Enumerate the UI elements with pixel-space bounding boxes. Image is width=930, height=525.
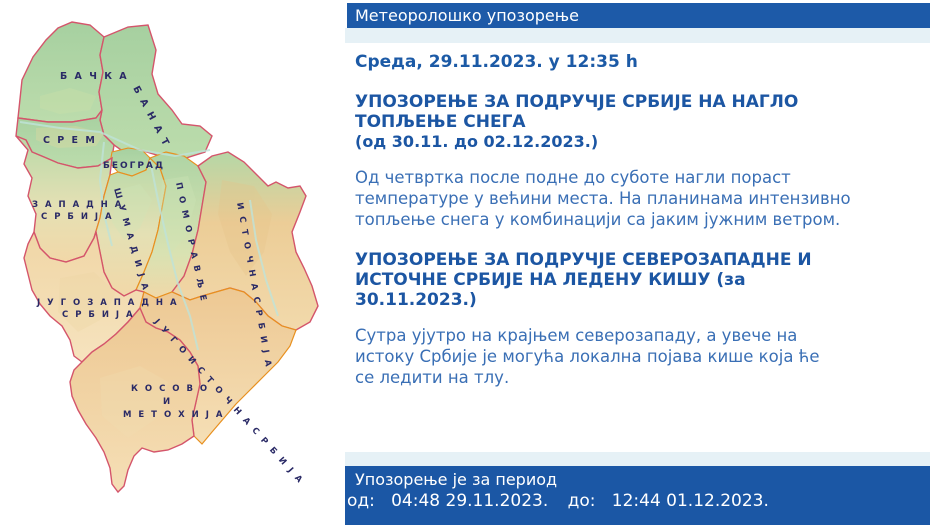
period-divider-strip — [345, 452, 930, 466]
validity-period-band: Упозорење је за период од: 04:48 29.11.2… — [345, 466, 930, 525]
warning-2-title-line2: ИСТОЧНЕ СРБИЈЕ НА ЛЕДЕНУ КИШУ (за — [355, 270, 930, 290]
warning-1-title-line1: УПОЗОРЕЊЕ ЗА ПОДРУЧЈЕ СРБИЈЕ НА НАГЛО — [355, 92, 930, 112]
period-from-value: 04:48 29.11.2023. — [391, 491, 548, 511]
warning-2-body: Сутра ујутро на крајњем северозападу, а … — [355, 310, 930, 388]
map-label-zapadna-srbija: З А П А Д Н А — [32, 200, 123, 210]
warning-body: Среда, 29.11.2023. у 12:35 h УПОЗОРЕЊЕ З… — [355, 46, 930, 388]
page-title: Метеоролошко упозорење — [347, 3, 930, 28]
warning-2-title: УПОЗОРЕЊЕ ЗА ПОДРУЧЈЕ СЕВЕРОЗАПАДНЕ И ИС… — [355, 230, 930, 310]
issue-datetime: Среда, 29.11.2023. у 12:35 h — [355, 46, 930, 72]
warning-1-body-line1: Од четвртка после подне до суботе нагли … — [355, 167, 930, 188]
period-to: до: 12:44 01.12.2023. — [568, 491, 769, 511]
period-values: од: 04:48 29.11.2023. до: 12:44 01.12.20… — [345, 490, 930, 513]
warning-1-title-line3: (од 30.11. до 02.12.2023.) — [355, 132, 930, 152]
period-from-label: од: — [347, 491, 375, 511]
weather-warning-page: Б А Ч К А Б А Н А Т С Р Е М БЕОГРАД З А … — [0, 0, 930, 525]
map-label-kosovo-3: М Е Т О Х И Ј А — [123, 410, 224, 420]
serbia-region-map: Б А Ч К А Б А Н А Т С Р Е М БЕОГРАД З А … — [0, 0, 345, 525]
warning-1-title: УПОЗОРЕЊЕ ЗА ПОДРУЧЈЕ СРБИЈЕ НА НАГЛО ТО… — [355, 72, 930, 152]
period-from: од: 04:48 29.11.2023. — [347, 491, 554, 511]
map-label-kosovo-2: И — [163, 397, 172, 407]
warning-2-body-line3: се ледити на тлу. — [355, 367, 930, 388]
map-label-jugozapadna-srbija: Ј У Г О З А П А Д Н А — [36, 298, 179, 308]
map-label-srem: С Р Е М — [43, 135, 97, 146]
period-label: Упозорење је за период — [345, 469, 930, 490]
map-label-backa: Б А Ч К А — [60, 71, 129, 82]
header-divider-strip — [345, 28, 930, 43]
region-banat — [99, 25, 212, 158]
period-to-label: до: — [568, 491, 596, 511]
warning-2-title-line3: 30.11.2023.) — [355, 290, 930, 310]
warning-1-body: Од четвртка после подне до суботе нагли … — [355, 152, 930, 230]
map-label-jugozapadna-srbija-2: С Р Б И Ј А — [62, 310, 135, 320]
serbia-map-svg: Б А Ч К А Б А Н А Т С Р Е М БЕОГРАД З А … — [0, 0, 345, 525]
warning-2-body-line2: истоку Србије је могућа локална појава к… — [355, 346, 930, 367]
warning-2-body-line1: Сутра ујутро на крајњем северозападу, а … — [355, 325, 930, 346]
map-label-zapadna-srbija-2: С Р Б И Ј А — [41, 212, 114, 222]
warning-text-panel: Метеоролошко упозорење Среда, 29.11.2023… — [345, 0, 930, 525]
warning-1-body-line3: топљење снега у комбинацији са јаким јуж… — [355, 209, 930, 230]
warning-2-title-line1: УПОЗОРЕЊЕ ЗА ПОДРУЧЈЕ СЕВЕРОЗАПАДНЕ И — [355, 250, 930, 270]
period-to-value: 12:44 01.12.2023. — [612, 491, 769, 511]
map-label-kosovo: К О С О В О — [131, 384, 209, 394]
map-label-beograd: БЕОГРАД — [103, 161, 165, 171]
warning-1-body-line2: температуре у већини места. На планинама… — [355, 188, 930, 209]
warning-1-title-line2: ТОПЉЕЊЕ СНЕГА — [355, 112, 930, 132]
